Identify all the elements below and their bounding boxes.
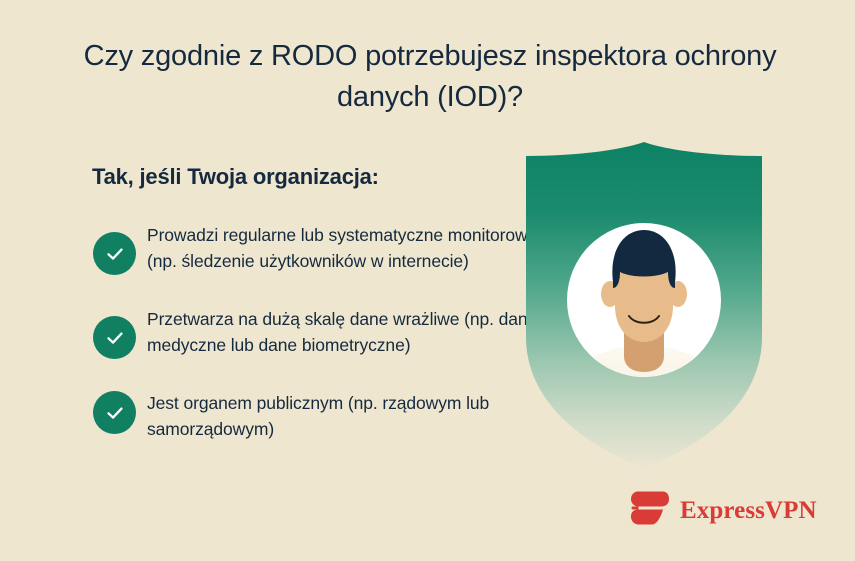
list-item: Prowadzi regularne lub systematyczne mon… (93, 218, 563, 275)
check-icon (93, 232, 136, 275)
list-item-label: Prowadzi regularne lub systematyczne mon… (147, 218, 563, 274)
expressvpn-logo: ExpressVPN (630, 490, 817, 531)
list-item: Jest organem publicznym (np. rządowym lu… (93, 386, 563, 442)
expressvpn-e-icon (630, 490, 670, 531)
expressvpn-wordmark: ExpressVPN (680, 498, 817, 523)
shield-with-person-illustration (516, 142, 772, 472)
check-icon (93, 391, 136, 434)
list-item: Przetwarza na dużą skalę dane wrażliwe (… (93, 302, 563, 359)
criteria-list: Prowadzi regularne lub systematyczne mon… (93, 218, 563, 442)
subtitle: Tak, jeśli Twoja organizacja: (92, 162, 379, 192)
infographic-canvas: Czy zgodnie z RODO potrzebujesz inspekto… (0, 0, 855, 561)
list-item-label: Przetwarza na dużą skalę dane wrażliwe (… (147, 302, 563, 358)
list-item-label: Jest organem publicznym (np. rządowym lu… (147, 386, 563, 442)
check-icon (93, 316, 136, 359)
page-title: Czy zgodnie z RODO potrzebujesz inspekto… (60, 36, 800, 118)
